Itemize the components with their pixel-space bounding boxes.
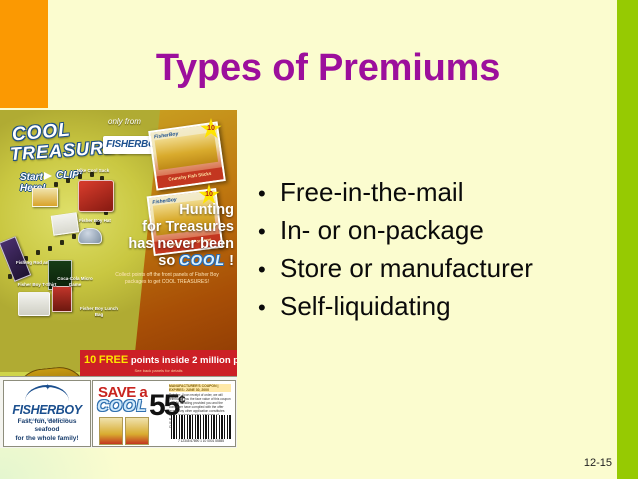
package-badge: 10 (200, 118, 222, 140)
trail-dot-icon (48, 246, 52, 251)
ad-banner-count: 10 (84, 354, 96, 366)
ad-premium-thumb (51, 212, 80, 235)
ad-premium-thumb-game (52, 286, 72, 312)
ad-premium-thumb-tshirt (18, 292, 50, 316)
ad-banner-free: FREE (99, 354, 128, 366)
ad-coupon-strip: ✦ FISHERBOY QUALITY SEAFOOD Fast, fun, d… (0, 376, 237, 448)
ad-small-print: Collect points off the front panels of F… (100, 272, 234, 285)
logo-arc-icon: ✦ (25, 385, 69, 403)
ad-premium-caption: Fisher Boy T-Shirt (14, 282, 60, 288)
ad-only-from-label: only from (108, 117, 141, 126)
ad-premium-caption: Fisher Boy Hat (72, 218, 118, 224)
ad-banner-rest: points inside 2 million packages! (131, 355, 237, 366)
list-item-label: Free-in-the-mail (280, 174, 464, 211)
barcode-number: 7 12345 67890 1 10 0001 55555 (171, 439, 231, 443)
ad-headline: Hunting for Treasures has never been so … (122, 202, 234, 270)
ad-banner-text: 10 FREE points inside 2 million packages… (84, 354, 233, 366)
ad-premium-thumb-hat (78, 228, 102, 244)
trail-dot-icon (66, 178, 70, 183)
barcode-icon (171, 415, 231, 439)
coupon-mini-package (125, 417, 149, 445)
coupon-tagline: Fast, fun, delicious seafood for the who… (6, 418, 88, 444)
star-icon: ✦ (44, 383, 52, 392)
coupon-brand-panel: ✦ FISHERBOY QUALITY SEAFOOD Fast, fun, d… (3, 380, 91, 447)
trail-dot-icon (72, 234, 76, 239)
bullet-icon: • (258, 251, 280, 288)
coupon-mini-package (99, 417, 123, 445)
ad-headline-line-2: for Treasures (122, 219, 234, 236)
ad-premium-thumb (32, 188, 58, 207)
orange-accent-bar (0, 0, 48, 108)
list-item: • In- or on-package (258, 212, 618, 250)
coupon-cool-label: COOL (97, 399, 147, 415)
list-item-label: Store or manufacturer (280, 250, 533, 287)
coupon-tagline-line-1: Fast, fun, delicious seafood (6, 418, 88, 435)
ad-headline-cool: COOL (179, 253, 225, 269)
ad-headline-line-4: so COOL ! (122, 253, 234, 270)
ad-headline-line-3: has never been (122, 236, 234, 253)
bullet-icon: • (258, 289, 280, 326)
ad-free-points-banner: 10 FREE points inside 2 million packages… (80, 350, 237, 378)
trail-dot-icon (36, 250, 40, 255)
bullet-icon: • (258, 213, 280, 250)
trail-dot-icon (78, 174, 82, 179)
ad-headline-bang: ! (229, 253, 234, 269)
list-item-label: Self-liquidating (280, 288, 451, 325)
coupon-offer-panel: SAVE a COOL 55¢ MANUFACTURER'S COUPON | … (92, 380, 236, 447)
ad-premium-thumb-coolsack (78, 180, 114, 212)
list-item-label: In- or on-package (280, 212, 484, 249)
bullet-list: • Free-in-the-mail • In- or on-package •… (258, 174, 618, 326)
trail-dot-icon (54, 182, 58, 187)
bullet-icon: • (258, 175, 280, 212)
coupon-brand-name: FISHERBOY (4, 404, 90, 417)
ad-headline-line-1: Hunting (122, 202, 234, 219)
ad-small-print-line-2: packages to get COOL TREASURES! (100, 279, 234, 286)
coupon-tagline-line-2: for the whole family! (6, 435, 88, 444)
arrow-icon (44, 172, 52, 180)
green-accent-bar (617, 0, 638, 479)
slide-page-number: 12-15 (584, 457, 612, 469)
ad-premium-caption: Nike Cool Sack (70, 168, 116, 174)
page-title: Types of Premiums (48, 49, 608, 89)
list-item: • Store or manufacturer (258, 250, 618, 288)
list-item: • Free-in-the-mail (258, 174, 618, 212)
trail-dot-icon (60, 240, 64, 245)
coupon-legal-header: MANUFACTURER'S COUPON | EXPIRES: JUNE 30… (169, 384, 231, 392)
list-item: • Self-liquidating (258, 288, 618, 326)
ad-small-print-line-1: Collect points off the front panels of F… (100, 272, 234, 279)
advertisement-image: COOL TREASURES only from FISHERBOY Start… (0, 110, 237, 448)
presentation-slide: Types of Premiums • Free-in-the-mail • I… (0, 0, 638, 479)
ad-banner-subtext: See back panels for details (80, 368, 237, 373)
ad-premium-caption: Fisher Boy Lunch Bag (76, 306, 122, 317)
ad-headline-so: so (158, 253, 175, 269)
